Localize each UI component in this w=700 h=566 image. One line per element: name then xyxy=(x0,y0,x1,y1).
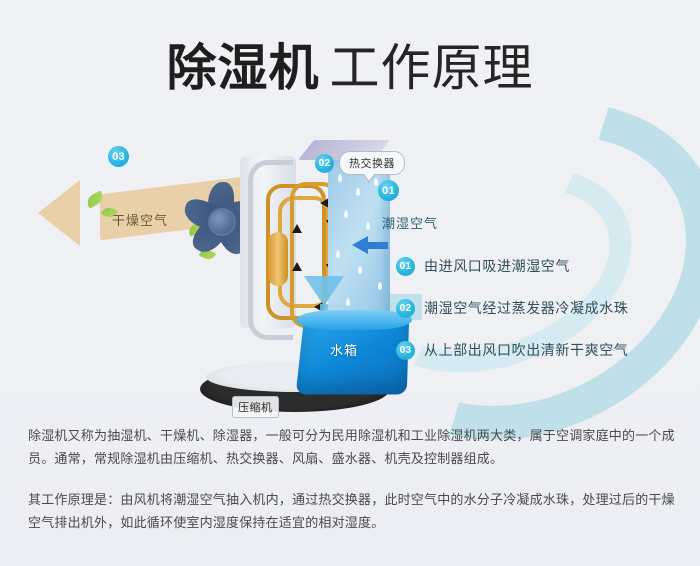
legend-item-01: 01 由进风口吸进潮湿空气 xyxy=(396,256,666,276)
legend-text-01: 由进风口吸进潮湿空气 xyxy=(424,256,570,276)
heat-exchanger-callout: 02 热交换器 xyxy=(315,151,405,175)
title-light-part: 工作原理 xyxy=(330,39,534,97)
water-droplet xyxy=(346,298,350,306)
water-droplet xyxy=(366,222,370,230)
description-block: 除湿机又称为抽湿机、干燥机、除湿器，一般可分为民用除湿机和工业除湿机两大类，属于… xyxy=(28,424,678,534)
flow-arrow-up-icon xyxy=(292,224,302,233)
water-droplet xyxy=(338,174,342,182)
humid-air-label: 潮湿空气 xyxy=(382,213,438,232)
water-droplet xyxy=(344,210,348,218)
receiver-cylinder xyxy=(268,232,288,286)
page-title: 除湿机工作原理 xyxy=(0,28,700,100)
dry-air-arrow-head xyxy=(38,180,80,246)
water-droplet xyxy=(378,282,382,290)
legend-badge-02: 02 xyxy=(396,299,415,318)
description-paragraph-2: 其工作原理是：由风机将潮湿空气抽入机内，通过热交换器，此时空气中的水分子冷凝成水… xyxy=(28,488,678,534)
compressor-label: 压缩机 xyxy=(232,396,279,418)
water-tank-label: 水箱 xyxy=(330,340,358,359)
legend-item-02: 02 潮湿空气经过蒸发器冷凝成水珠 xyxy=(396,298,666,318)
air-intake-arrow-tail xyxy=(366,242,388,249)
legend-item-03: 03 从上部出风口吹出清新干爽空气 xyxy=(396,340,666,360)
title-strong-part: 除湿机 xyxy=(167,39,320,97)
dry-air-label: 干燥空气 xyxy=(112,210,168,229)
legend-text-02: 潮湿空气经过蒸发器冷凝成水珠 xyxy=(424,298,628,318)
legend-badge-03: 03 xyxy=(396,341,415,360)
dry-air-badge-wrap: 03 xyxy=(108,146,129,167)
heat-exchanger-label: 热交换器 xyxy=(339,151,405,175)
legend-text-03: 从上部出风口吹出清新干爽空气 xyxy=(424,340,628,360)
humid-air-badge-wrap: 01 xyxy=(378,180,399,201)
infographic-page: 除湿机工作原理 xyxy=(0,0,700,566)
humid-air-badge: 01 xyxy=(378,180,399,201)
heat-exchanger-badge: 02 xyxy=(315,154,334,173)
drain-funnel xyxy=(304,276,344,306)
flow-arrow-up-icon xyxy=(292,262,302,271)
water-droplet xyxy=(356,188,360,196)
legend-list: 01 由进风口吸进潮湿空气 02 潮湿空气经过蒸发器冷凝成水珠 03 从上部出风… xyxy=(396,256,666,382)
water-droplet xyxy=(336,250,340,258)
dry-air-badge: 03 xyxy=(108,146,129,167)
description-paragraph-1: 除湿机又称为抽湿机、干燥机、除湿器，一般可分为民用除湿机和工业除湿机两大类，属于… xyxy=(28,424,678,470)
water-droplet xyxy=(358,266,362,274)
legend-badge-01: 01 xyxy=(396,257,415,276)
